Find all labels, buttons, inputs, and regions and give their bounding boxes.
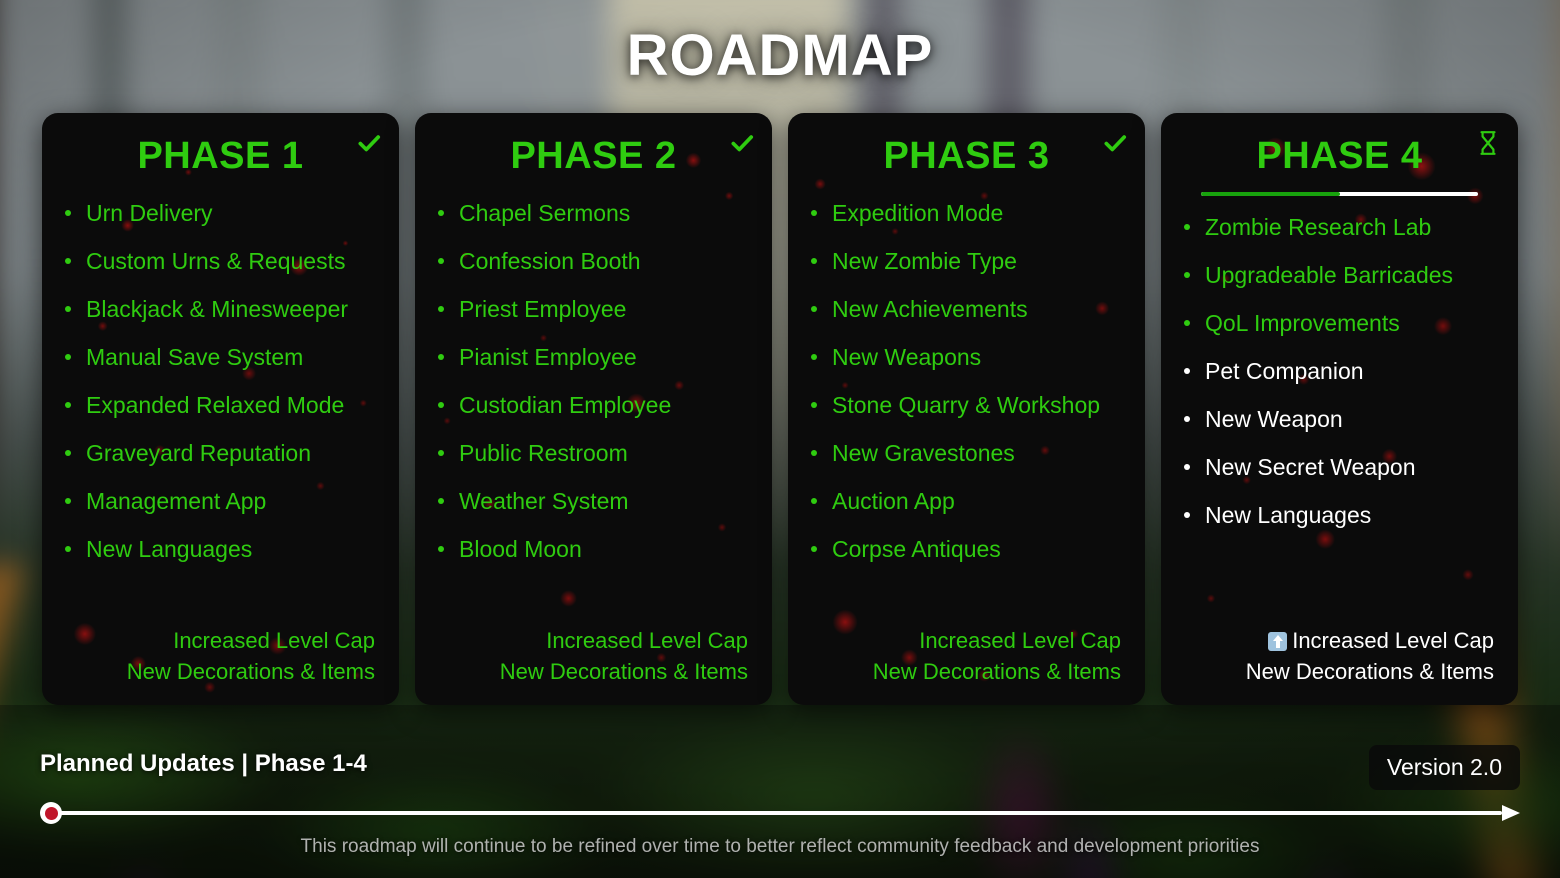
- list-item-label: Graveyard Reputation: [86, 440, 311, 466]
- list-item-label: Custodian Employee: [459, 392, 671, 418]
- bullet-icon: [811, 450, 817, 456]
- level-up-arrow-icon: [1268, 632, 1287, 651]
- phase-cards-row: PHASE 1 Urn Delivery Custom Urns & Reque…: [42, 113, 1518, 705]
- phase-progress-bar: [1201, 192, 1478, 196]
- list-item: Priest Employee: [459, 298, 754, 321]
- list-item: Pet Companion: [1205, 360, 1500, 383]
- bullet-icon: [1184, 224, 1190, 230]
- bullet-icon: [438, 354, 444, 360]
- list-item-label: New Zombie Type: [832, 248, 1017, 274]
- footer-line-2: New Decorations & Items: [433, 656, 748, 687]
- bullet-icon: [65, 498, 71, 504]
- footer-line-1: Increased Level Cap: [806, 625, 1121, 656]
- list-item-label: Blood Moon: [459, 536, 582, 562]
- list-item-label: Public Restroom: [459, 440, 628, 466]
- list-item: New Secret Weapon: [1205, 456, 1500, 479]
- bullet-icon: [811, 546, 817, 552]
- bullet-icon: [811, 402, 817, 408]
- phase-footer: Increased Level Cap New Decorations & It…: [1179, 625, 1500, 687]
- footer-line-1: Increased Level Cap: [60, 625, 375, 656]
- phase-title: PHASE 3: [806, 135, 1127, 178]
- planned-updates-heading: Planned Updates | Phase 1-4: [40, 750, 367, 778]
- list-item-label: Expanded Relaxed Mode: [86, 392, 344, 418]
- phase-title: PHASE 1: [60, 135, 381, 178]
- timeline: [40, 802, 1520, 824]
- list-item-label: Weather System: [459, 488, 629, 514]
- bullet-icon: [438, 546, 444, 552]
- bullet-icon: [65, 402, 71, 408]
- list-item: New Languages: [86, 538, 381, 561]
- list-item: New Zombie Type: [832, 250, 1127, 273]
- list-item: Expanded Relaxed Mode: [86, 394, 381, 417]
- list-item-label: New Weapon: [1205, 406, 1343, 432]
- list-item-label: New Achievements: [832, 296, 1028, 322]
- bullet-icon: [1184, 512, 1190, 518]
- list-item-label: Stone Quarry & Workshop: [832, 392, 1100, 418]
- list-item: Graveyard Reputation: [86, 442, 381, 465]
- bullet-icon: [65, 258, 71, 264]
- list-item: QoL Improvements: [1205, 312, 1500, 335]
- phase-footer: Increased Level Cap New Decorations & It…: [60, 625, 381, 687]
- list-item-label: Urn Delivery: [86, 200, 213, 226]
- bullet-icon: [438, 402, 444, 408]
- timeline-start-marker[interactable]: [40, 802, 62, 824]
- check-icon: [355, 129, 383, 157]
- footer-line-2: New Decorations & Items: [806, 656, 1121, 687]
- list-item: Zombie Research Lab: [1205, 216, 1500, 239]
- phase-item-list: Zombie Research Lab Upgradeable Barricad…: [1179, 216, 1500, 552]
- hourglass-icon: [1474, 129, 1502, 157]
- footer-line-1: Increased Level Cap: [1179, 625, 1494, 656]
- footer-line-1: Increased Level Cap: [433, 625, 748, 656]
- list-item-label: Zombie Research Lab: [1205, 214, 1431, 240]
- bullet-icon: [438, 306, 444, 312]
- list-item-label: Custom Urns & Requests: [86, 248, 345, 274]
- list-item-label: New Languages: [1205, 502, 1371, 528]
- list-item: New Weapons: [832, 346, 1127, 369]
- list-item-label: New Weapons: [832, 344, 981, 370]
- phase-item-list: Chapel Sermons Confession Booth Priest E…: [433, 202, 754, 586]
- bottom-bar: Planned Updates | Phase 1-4 Version 2.0 …: [0, 705, 1560, 878]
- list-item-label: Upgradeable Barricades: [1205, 262, 1453, 288]
- check-icon: [728, 129, 756, 157]
- footer-line-2: New Decorations & Items: [1179, 656, 1494, 687]
- list-item: Stone Quarry & Workshop: [832, 394, 1127, 417]
- list-item: Chapel Sermons: [459, 202, 754, 225]
- bullet-icon: [811, 210, 817, 216]
- bullet-icon: [438, 498, 444, 504]
- list-item: Urn Delivery: [86, 202, 381, 225]
- bullet-icon: [811, 258, 817, 264]
- bullet-icon: [1184, 464, 1190, 470]
- bullet-icon: [811, 498, 817, 504]
- list-item: New Achievements: [832, 298, 1127, 321]
- phase-footer: Increased Level Cap New Decorations & It…: [433, 625, 754, 687]
- list-item: Confession Booth: [459, 250, 754, 273]
- list-item: Blackjack & Minesweeper: [86, 298, 381, 321]
- bullet-icon: [65, 450, 71, 456]
- phase-item-list: Urn Delivery Custom Urns & Requests Blac…: [60, 202, 381, 586]
- list-item: New Gravestones: [832, 442, 1127, 465]
- list-item: Weather System: [459, 490, 754, 513]
- list-item: Blood Moon: [459, 538, 754, 561]
- footer-line-2: New Decorations & Items: [60, 656, 375, 687]
- list-item-label: Corpse Antiques: [832, 536, 1001, 562]
- phase-card-4[interactable]: PHASE 4 Zombie Research Lab Upgradeable …: [1161, 113, 1518, 705]
- list-item-label: Management App: [86, 488, 266, 514]
- list-item: Upgradeable Barricades: [1205, 264, 1500, 287]
- bullet-icon: [1184, 320, 1190, 326]
- phase-item-list: Expedition Mode New Zombie Type New Achi…: [806, 202, 1127, 586]
- list-item: Management App: [86, 490, 381, 513]
- list-item-label: Pet Companion: [1205, 358, 1364, 384]
- bullet-icon: [65, 546, 71, 552]
- bullet-icon: [811, 306, 817, 312]
- list-item-label: New Gravestones: [832, 440, 1015, 466]
- phase-title: PHASE 4: [1179, 135, 1500, 178]
- check-icon: [1101, 129, 1129, 157]
- footer-line-1-label: Increased Level Cap: [1292, 628, 1494, 653]
- bullet-icon: [438, 258, 444, 264]
- phase-title: PHASE 2: [433, 135, 754, 178]
- phase-card-3[interactable]: PHASE 3 Expedition Mode New Zombie Type …: [788, 113, 1145, 705]
- list-item: Public Restroom: [459, 442, 754, 465]
- bullet-icon: [65, 354, 71, 360]
- list-item-label: Confession Booth: [459, 248, 641, 274]
- list-item: Manual Save System: [86, 346, 381, 369]
- bullet-icon: [1184, 272, 1190, 278]
- list-item: Pianist Employee: [459, 346, 754, 369]
- list-item: Corpse Antiques: [832, 538, 1127, 561]
- list-item-label: Auction App: [832, 488, 955, 514]
- page-title: ROADMAP: [0, 22, 1560, 89]
- phase-footer: Increased Level Cap New Decorations & It…: [806, 625, 1127, 687]
- list-item-label: QoL Improvements: [1205, 310, 1400, 336]
- timeline-arrow-icon: [1502, 805, 1520, 821]
- list-item: Expedition Mode: [832, 202, 1127, 225]
- list-item-label: Blackjack & Minesweeper: [86, 296, 348, 322]
- timeline-line: [52, 811, 1502, 815]
- list-item-label: Chapel Sermons: [459, 200, 630, 226]
- roadmap-screen: ROADMAP PHASE 1 Urn Delivery Custom Urns…: [0, 0, 1560, 878]
- list-item: Custom Urns & Requests: [86, 250, 381, 273]
- list-item: Custodian Employee: [459, 394, 754, 417]
- bullet-icon: [1184, 368, 1190, 374]
- list-item-label: New Secret Weapon: [1205, 454, 1416, 480]
- list-item-label: Expedition Mode: [832, 200, 1003, 226]
- list-item-label: Manual Save System: [86, 344, 303, 370]
- bullet-icon: [811, 354, 817, 360]
- phase-progress-fill: [1201, 192, 1340, 196]
- bullet-icon: [65, 210, 71, 216]
- version-badge: Version 2.0: [1369, 745, 1520, 790]
- bullet-icon: [438, 450, 444, 456]
- list-item: New Weapon: [1205, 408, 1500, 431]
- list-item-label: Pianist Employee: [459, 344, 637, 370]
- bullet-icon: [65, 306, 71, 312]
- list-item-label: Priest Employee: [459, 296, 626, 322]
- disclaimer-text: This roadmap will continue to be refined…: [0, 836, 1560, 858]
- list-item: New Languages: [1205, 504, 1500, 527]
- bullet-icon: [1184, 416, 1190, 422]
- phase-card-1[interactable]: PHASE 1 Urn Delivery Custom Urns & Reque…: [42, 113, 399, 705]
- list-item-label: New Languages: [86, 536, 252, 562]
- list-item: Auction App: [832, 490, 1127, 513]
- phase-card-2[interactable]: PHASE 2 Chapel Sermons Confession Booth …: [415, 113, 772, 705]
- bullet-icon: [438, 210, 444, 216]
